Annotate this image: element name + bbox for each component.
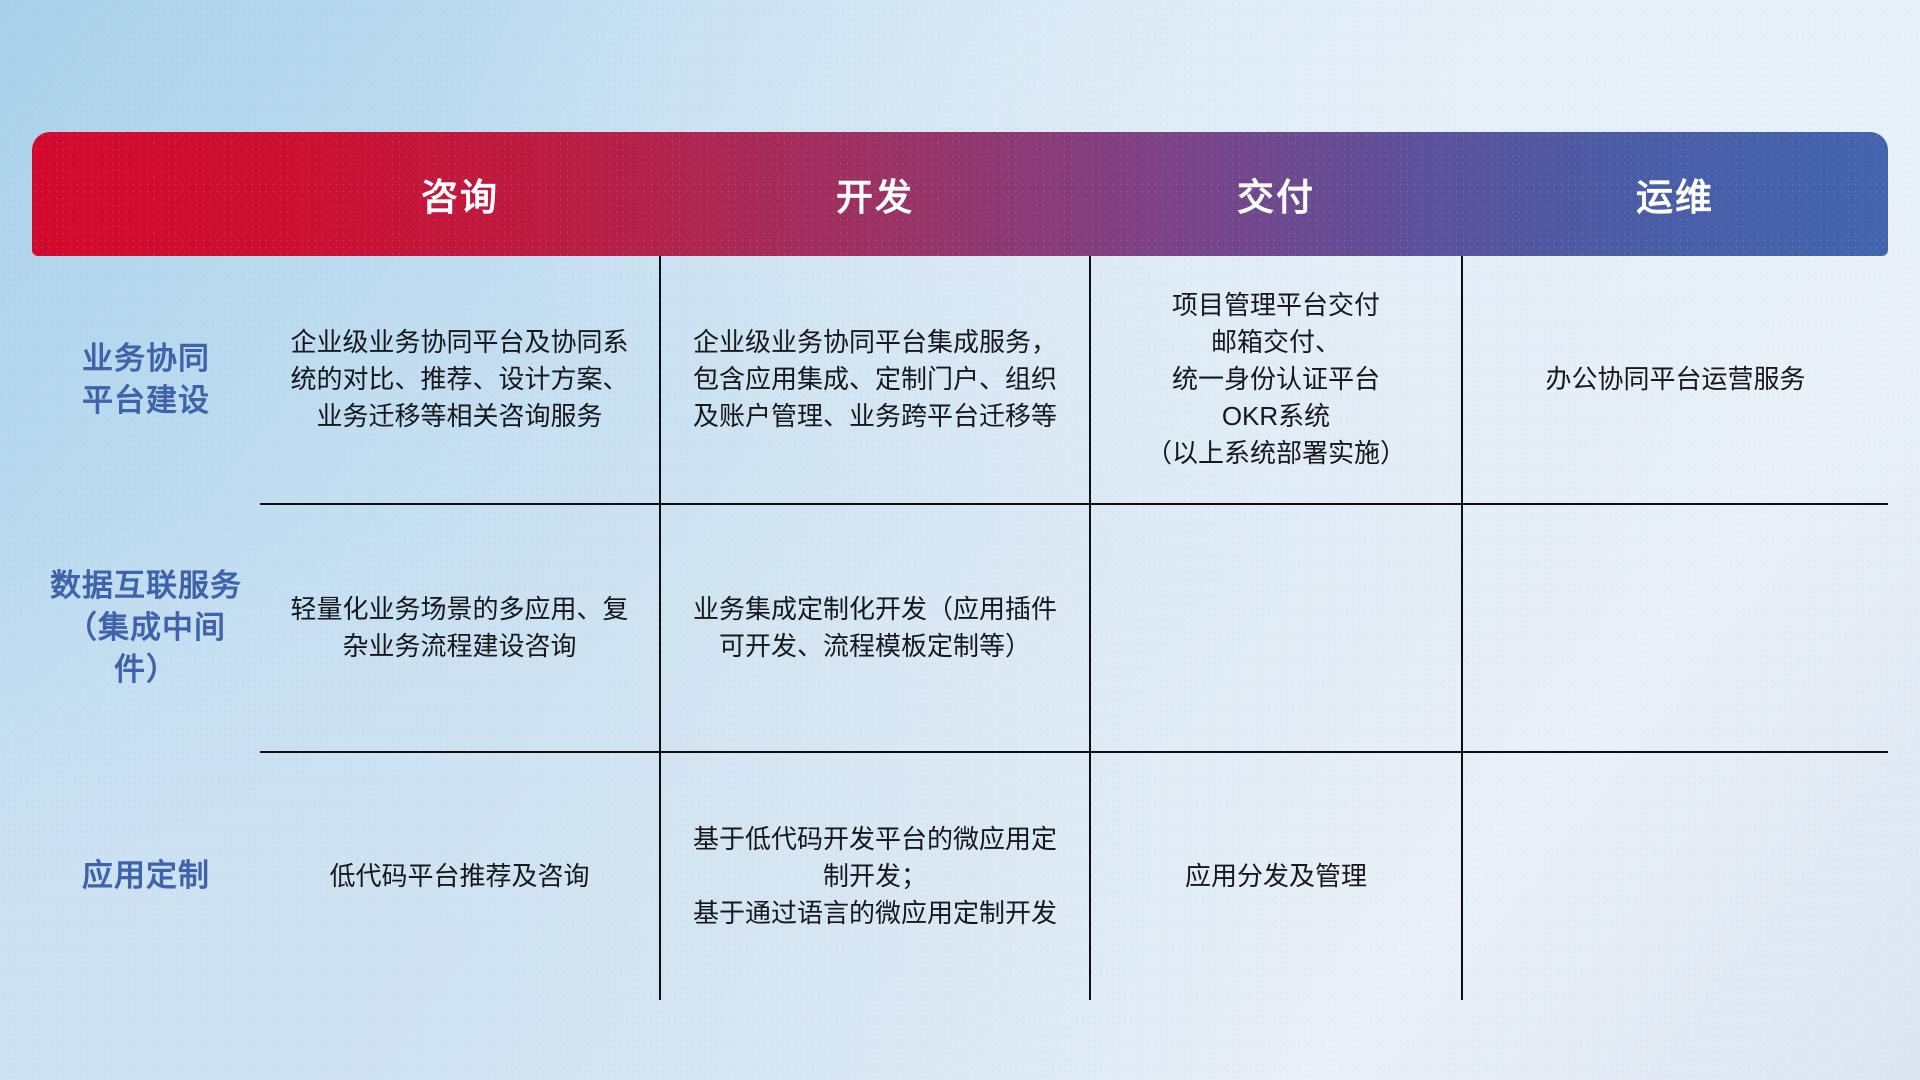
cell-delivery: 项目管理平台交付 邮箱交付、 统一身份认证平台 OKR系统 （以上系统部署实施） — [1090, 256, 1462, 504]
row-category-label: 业务协同 平台建设 — [32, 256, 260, 504]
cell-delivery: 应用分发及管理 — [1090, 752, 1462, 1000]
matrix-grid: 服务类别 咨询 开发 交付 运维 — [32, 132, 1888, 1000]
table-row: 数据互联服务 （集成中间件） 轻量化业务场景的多应用、复 杂业务流程建设咨询 业… — [32, 504, 1888, 752]
cell-consulting: 低代码平台推荐及咨询 — [260, 752, 660, 1000]
cell-consulting: 企业级业务协同平台及协同系 统的对比、推荐、设计方案、 业务迁移等相关咨询服务 — [260, 256, 660, 504]
table-row: 业务协同 平台建设 企业级业务协同平台及协同系 统的对比、推荐、设计方案、 业务… — [32, 256, 1888, 504]
row-category-label: 数据互联服务 （集成中间件） — [32, 504, 260, 752]
cell-development: 企业级业务协同平台集成服务， 包含应用集成、定制门户、组织 及账户管理、业务跨平… — [660, 256, 1090, 504]
header-cell-delivery: 交付 — [1090, 132, 1462, 256]
cell-operations — [1462, 504, 1888, 752]
header-label-consulting: 咨询 — [421, 177, 499, 218]
table-row: 应用定制 低代码平台推荐及咨询 基于低代码开发平台的微应用定 制开发； 基于通过… — [32, 752, 1888, 1000]
service-matrix-table: 服务类别 咨询 开发 交付 运维 — [32, 132, 1888, 952]
cell-delivery — [1090, 504, 1462, 752]
header-cell-category: 服务类别 — [32, 132, 260, 256]
header-cell-consulting: 咨询 — [260, 132, 660, 256]
cell-consulting: 轻量化业务场景的多应用、复 杂业务流程建设咨询 — [260, 504, 660, 752]
page-canvas: 服务类别 咨询 开发 交付 运维 — [0, 0, 1920, 1080]
matrix-header: 服务类别 咨询 开发 交付 运维 — [32, 132, 1888, 256]
header-label-development: 开发 — [836, 177, 914, 218]
row-category-label: 应用定制 — [32, 752, 260, 1000]
header-cell-operations: 运维 — [1462, 132, 1888, 256]
header-label-operations: 运维 — [1636, 177, 1714, 218]
cell-development: 业务集成定制化开发（应用插件 可开发、流程模板定制等） — [660, 504, 1090, 752]
matrix-body: 业务协同 平台建设 企业级业务协同平台及协同系 统的对比、推荐、设计方案、 业务… — [32, 256, 1888, 1000]
cell-development: 基于低代码开发平台的微应用定 制开发； 基于通过语言的微应用定制开发 — [660, 752, 1090, 1000]
cell-operations: 办公协同平台运营服务 — [1462, 256, 1888, 504]
cell-operations — [1462, 752, 1888, 1000]
header-cell-development: 开发 — [660, 132, 1090, 256]
header-row: 服务类别 咨询 开发 交付 运维 — [32, 132, 1888, 256]
header-label-delivery: 交付 — [1237, 177, 1315, 218]
